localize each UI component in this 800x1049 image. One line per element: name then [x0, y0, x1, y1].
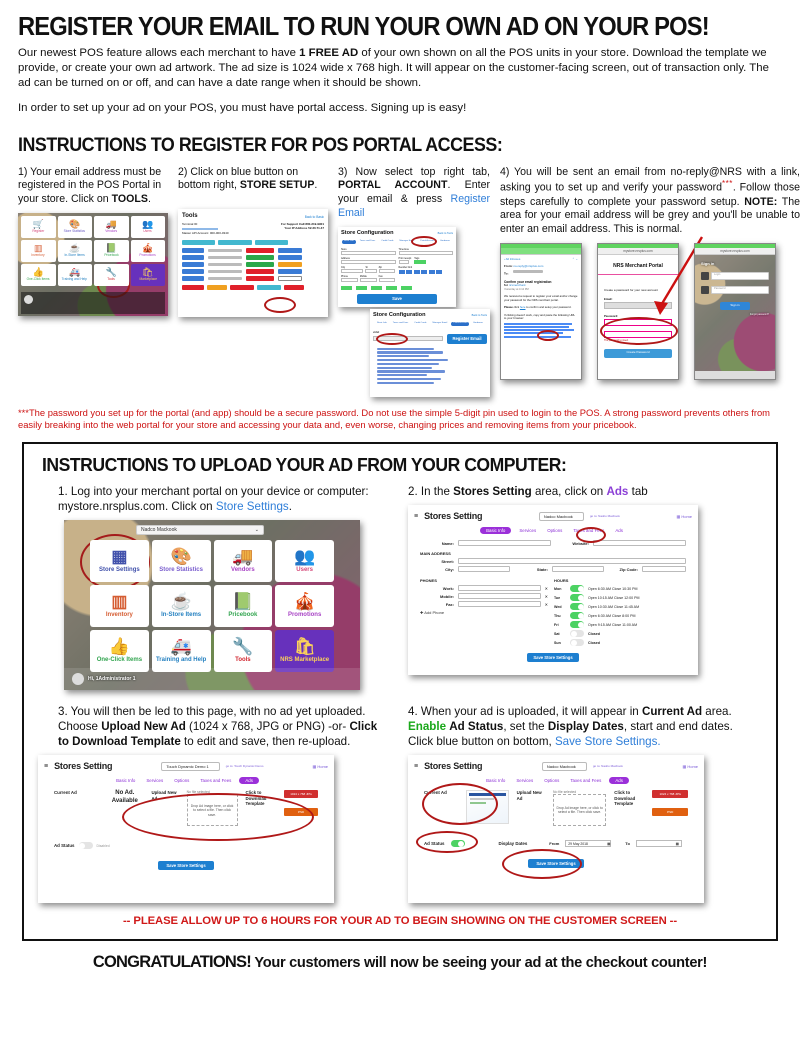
stores-setting-tab-ads[interactable]: Ads	[609, 777, 629, 784]
stores-setting-tab-services[interactable]: Services	[513, 777, 536, 784]
portal-tile-training-and-help[interactable]: 🚑Training and Help	[152, 630, 211, 672]
u2-text-c: tab	[628, 485, 647, 498]
u4-text-b: area.	[702, 705, 732, 718]
stores-setting-store-select[interactable]: Nadco Macbook	[539, 512, 584, 521]
pricebook-icon: 📗	[232, 593, 253, 610]
portal-tile-promotions[interactable]: 🎪Promotions	[275, 585, 334, 627]
ss-name-input[interactable]	[458, 540, 551, 546]
register-step-2: 2) Click on blue button on bottom right,…	[178, 166, 328, 318]
ads-filled-download-jpg-button[interactable]: 1024 x 768 JPG	[652, 790, 688, 798]
congrats-rest: Your customers will now be seeing your a…	[251, 955, 707, 971]
stores-setting-tab-basic-info[interactable]: Basic Info	[480, 527, 511, 534]
pos-tile-store-statistics[interactable]: 🎨Store Statistics	[58, 216, 93, 238]
phone3-signin-button[interactable]: Sign in	[720, 302, 750, 310]
store-config-tab-manager-email[interactable]: Manager Email	[431, 322, 450, 326]
vendors-icon: 🚚	[232, 548, 253, 565]
ads-filled-display-dates-label: Display Dates	[499, 841, 528, 846]
phone2-url: mystore.nrsplus.com	[623, 249, 652, 253]
training-and-help-icon: 🚑	[171, 638, 192, 655]
section-heading-upload: INSTRUCTIONS TO UPLOAD YOUR AD FROM YOUR…	[42, 454, 728, 476]
store-settings-icon: ▦	[111, 548, 127, 565]
stores-setting-tab-taxes-and-fees[interactable]: Taxes and Fees	[197, 777, 234, 784]
inventory-icon: ▥	[111, 593, 127, 610]
ads-empty-status-toggle[interactable]	[79, 842, 93, 849]
phone1-body-3: If clicking doesn't work, copy and paste…	[504, 314, 578, 321]
screenshot-tools-screen: Tools Back to Basic Terminal ID: Master …	[178, 209, 328, 317]
u4-bold-current-ad: Current Ad	[642, 705, 702, 718]
phone1-body-2: Please click here to confirm and setup y…	[504, 306, 578, 309]
phone1-back[interactable]: ‹ All Inboxes	[504, 258, 520, 262]
screenshot-phone-login: mystore.nrsplus.com Sign in Login Passwo…	[694, 243, 776, 380]
step3-text-a: 3) Now select top right tab,	[338, 166, 490, 178]
ads-filled-download-label: Click to Download Template	[614, 790, 644, 826]
inventory-icon: ▥	[34, 244, 43, 253]
ads-filled-upload-label: Upload New Ad	[517, 790, 545, 826]
upload-step-2: 2. In the Stores Setting area, click on …	[408, 484, 758, 690]
u2-text-b: area, click on	[532, 485, 607, 498]
ads-filled-from-input[interactable]: 29 May 2018▦	[565, 840, 611, 847]
store-config-tab-hardware[interactable]: Hardware	[471, 322, 484, 326]
portal-tile-in-store-items[interactable]: ☕In-Store Items	[152, 585, 211, 627]
intro-bold-free-ad: 1 FREE AD	[299, 47, 358, 59]
password-warning: ***The password you set up for the porta…	[18, 407, 782, 432]
store-config-register-email-button[interactable]: Register Email	[447, 334, 487, 343]
intro-paragraph-1: Our newest POS feature allows each merch…	[18, 46, 782, 92]
ss-main-address-label: MAIN ADDRESS	[420, 551, 686, 556]
store-config-tab-portal-account[interactable]: Portal Account	[451, 322, 469, 326]
stores-setting-tab-services[interactable]: Services	[143, 777, 166, 784]
store-config-tab-basic-info[interactable]: Basic Info	[375, 322, 389, 326]
hours-row-thu: ThuOpen 6:30 AM Close 8:00 PM	[554, 612, 692, 619]
upload-step-1-text: 1. Log into your merchant portal on your…	[36, 484, 386, 514]
hamburger-icon[interactable]: ≡	[414, 763, 418, 770]
in-store-items-icon: ☕	[69, 244, 80, 253]
hours-toggle-mon[interactable]	[570, 585, 584, 592]
upload-step-2-text: 2. In the Stores Setting area, click on …	[408, 484, 758, 499]
u4-green-enable: Enable	[408, 720, 446, 733]
redcircle-upload-area	[122, 793, 314, 841]
register-step-3: 3) Now select top right tab, PORTAL ACCO…	[338, 166, 490, 397]
screenshot-store-config-portal: Store Configuration Back to Tools Basic …	[370, 309, 490, 397]
tools-screen-back-link: Back to Basic	[305, 215, 324, 219]
ads-filled-from-label: From	[549, 841, 559, 846]
section-heading-register: INSTRUCTIONS TO REGISTER FOR POS PORTAL …	[18, 135, 736, 157]
calendar-icon: ▦	[607, 842, 610, 846]
u2-accent-ads: Ads	[606, 485, 628, 498]
hours-toggle-sun[interactable]	[570, 639, 584, 646]
portal-store-select[interactable]: Nadco Mackook⌄	[136, 525, 264, 535]
u1-link-store-settings[interactable]: Store Settings	[216, 500, 289, 513]
page-title: REGISTER YOUR EMAIL TO RUN YOUR OWN AD O…	[18, 14, 729, 41]
stores-setting-tab-services[interactable]: Services	[516, 527, 539, 534]
pricebook-icon: 📗	[106, 244, 117, 253]
delete-icon[interactable]: ✕	[545, 602, 548, 607]
avatar	[72, 673, 84, 685]
allow-time-note: -- PLEASE ALLOW UP TO 6 HOURS FOR YOUR A…	[36, 915, 764, 927]
phone2-create-password-button[interactable]: Create Password	[604, 349, 672, 358]
stores-setting-tab-options[interactable]: Options	[544, 527, 565, 534]
stores-setting-tab-ads[interactable]: Ads	[612, 527, 626, 534]
hours-toggle-tue[interactable]	[570, 594, 584, 601]
portal-footer-greeting: Hi, 1Administrator 1	[88, 676, 136, 682]
step4-bold-note: NOTE:	[744, 196, 777, 208]
phone1-timestamp: Yesterday at 4:12 PM	[504, 288, 578, 291]
phone1-body-1: We received a request to register your e…	[504, 295, 578, 302]
hamburger-icon[interactable]: ≡	[44, 763, 48, 770]
register-step-2-text: 2) Click on blue button on bottom right,…	[178, 166, 328, 194]
ads-filled-download-psd-button[interactable]: PSD	[652, 808, 688, 816]
upload-step-4-text: 4. When your ad is uploaded, it will app…	[408, 704, 758, 749]
vendors-icon: 🚚	[106, 220, 117, 229]
portal-tile-users[interactable]: 👥Users	[275, 540, 334, 582]
portal-tile-inventory[interactable]: ▥Inventory	[90, 585, 149, 627]
ss-work-input[interactable]	[458, 585, 541, 591]
register-step-4-text: 4) You will be sent an email from no-rep…	[500, 166, 800, 237]
user-icon	[701, 272, 709, 280]
stores-setting-tab-basic-info[interactable]: Basic Info	[483, 777, 508, 784]
ss-zip-input[interactable]	[642, 566, 686, 572]
u1-text-b: .	[289, 500, 292, 513]
hours-row-fri: FriOpen 9:15 AM Close 11:00 AM	[554, 621, 692, 628]
redcircle-save-button	[502, 849, 582, 879]
store-config-back-1: Back to Tools	[438, 232, 453, 235]
store-statistics-icon: 🎨	[171, 548, 192, 565]
portal-tile-store-settings[interactable]: ▦Store Settings	[90, 540, 149, 582]
ads-empty-download-jpg-button[interactable]: 1024 x 768 JPG	[284, 790, 318, 798]
ss-city-input[interactable]	[458, 566, 510, 572]
pos-tile-training-and-help[interactable]: 🚑Training and Help	[58, 264, 93, 286]
ads-empty-store-select[interactable]: Touch Dynamic Demo 1	[161, 762, 219, 771]
upload-steps-row-top: 1. Log into your merchant portal on your…	[36, 484, 764, 690]
screenshot-pos-tools-grid: 🛒Register🎨Store Statistics🚚Vendors👥Users…	[18, 213, 168, 316]
ss-name-label: Name:	[420, 541, 454, 546]
ss-hours-label: HOURS	[554, 578, 692, 583]
portal-tile-nrs-marketplace[interactable]: 🛍NRS Marketplace	[275, 630, 334, 672]
tools-icon: 🔧	[232, 638, 253, 655]
store-config-back-2: Back to Tools	[472, 314, 487, 317]
ads-empty-goto-link[interactable]: go to: Touch Dynamic Demo	[226, 764, 264, 768]
stores-setting-goto-link[interactable]: go to: Nadco Macbook	[590, 514, 620, 518]
portal-tile-vendors[interactable]: 🚚Vendors	[214, 540, 273, 582]
redcircle-portal-account-tab	[411, 236, 437, 247]
register-step-4: 4) You will be sent an email from no-rep…	[500, 166, 800, 393]
congratulations-line: CONGRATULATIONS! Your customers will now…	[18, 953, 782, 972]
ads-filled-title: Stores Setting	[424, 761, 482, 771]
screenshot-ads-tab-empty: ≡ Stores Setting Touch Dynamic Demo 1 go…	[38, 755, 334, 903]
pos-tile-pricebook[interactable]: 📗Pricebook	[94, 240, 129, 262]
phone1-from-value: no-reply@nrsplus.com	[513, 264, 543, 268]
ss-fax-input[interactable]	[458, 601, 541, 607]
hours-toggle-sat[interactable]	[570, 630, 584, 637]
u4-text-a: 4. When your ad is uploaded, it will app…	[408, 705, 642, 718]
u3-text-c: to edit and save, then re-upload.	[181, 735, 351, 748]
calendar-icon: ▦	[676, 842, 679, 846]
store-config-save-1[interactable]: Save	[357, 294, 438, 303]
pos-tile-in-store-items[interactable]: ☕In-Store Items	[58, 240, 93, 262]
ads-filled-home-link[interactable]: ▦ Home	[682, 764, 698, 769]
chevron-down-icon: ⌄	[255, 527, 259, 533]
redcircle-here-link	[537, 330, 559, 341]
tools-row	[182, 255, 324, 260]
step3-bold-portal-account: PORTAL ACCOUNT	[338, 179, 447, 191]
stores-setting-tab-taxes-and-fees[interactable]: Taxes and Fees	[567, 777, 604, 784]
hours-row-mon: MonOpen 6:30 AM Close 10:30 PM	[554, 585, 692, 592]
pos-tile-inventory[interactable]: ▥Inventory	[21, 240, 56, 262]
phone1-for-label: for	[504, 283, 508, 287]
redcircle-store-setup	[264, 297, 296, 313]
ss-street-input[interactable]	[458, 558, 686, 564]
register-step-1: 1) Your email address must be registered…	[18, 166, 168, 316]
users-icon: 👥	[294, 548, 315, 565]
ss-phones-label: PHONES	[420, 578, 554, 583]
store-config-title-1: Store Configuration	[341, 230, 394, 237]
hamburger-icon[interactable]: ≡	[414, 513, 418, 520]
ss-work-label: Work:	[420, 586, 454, 591]
ads-empty-home-link[interactable]: ▦ Home	[312, 764, 328, 769]
upload-instructions-box: INSTRUCTIONS TO UPLOAD YOUR AD FROM YOUR…	[22, 442, 778, 941]
intro-paragraph-2: In order to set up your ad on your POS, …	[18, 101, 782, 116]
poster-page: REGISTER YOUR EMAIL TO RUN YOUR OWN AD O…	[0, 14, 800, 1049]
hours-row-wed: WedOpen 10:30 AM Close 11:45 AM	[554, 603, 692, 610]
ads-empty-title: Stores Setting	[54, 761, 112, 771]
screenshot-stores-setting-basic-info: ≡ Stores Setting Nadco Macbook go to: Na…	[408, 505, 698, 675]
phone1-header	[501, 248, 581, 255]
redcircle-ad-status	[416, 831, 478, 853]
store-config-tab-basic-info[interactable]: Basic Info	[342, 240, 356, 244]
tools-row	[182, 262, 324, 267]
phone3-url: mystore.nrsplus.com	[720, 249, 749, 253]
ss-state-label: State:	[514, 567, 548, 572]
delete-icon[interactable]: ✕	[545, 594, 548, 599]
marketplace-icon: 🛍	[142, 268, 153, 277]
ads-empty-status-value: Disabled	[97, 844, 110, 848]
delete-icon[interactable]: ✕	[545, 586, 548, 591]
tools-row	[182, 248, 324, 253]
promotions-icon: 🎪	[294, 593, 315, 610]
ss-website-input[interactable]	[593, 540, 686, 546]
redcircle-email-field	[376, 333, 408, 345]
stores-setting-tab-basic-info[interactable]: Basic Info	[113, 777, 138, 784]
users-icon: 👥	[142, 220, 153, 229]
u3-bold-upload-new-ad: Upload New Ad	[101, 720, 186, 733]
store-statistics-icon: 🎨	[69, 220, 80, 229]
pos-tile-users[interactable]: 👥Users	[131, 216, 166, 238]
portal-tile-store-statistics[interactable]: 🎨Store Statistics	[152, 540, 211, 582]
store-config-tab-hardware[interactable]: Hardware	[438, 240, 451, 244]
ss-state-select[interactable]	[552, 566, 604, 572]
hours-row-sun: SunClosed	[554, 639, 692, 646]
pos-tile-register[interactable]: 🛒Register	[21, 216, 56, 238]
ss-city-label: City:	[420, 567, 454, 572]
screenshot-ads-tab-filled: ≡ Stores Setting Nadco Macbook go to: Na…	[408, 755, 704, 903]
ss-add-phone-button[interactable]: ✚ Add Phone	[420, 610, 554, 615]
tools-row	[182, 276, 324, 281]
register-step-3-text: 3) Now select top right tab, PORTAL ACCO…	[338, 166, 490, 221]
ads-filled-store-select[interactable]: Nadco Macbook	[542, 762, 587, 771]
screenshot-phone-email: ‹ All Inboxes⌃ ⌄ From: no-reply@nrsplus.…	[500, 243, 582, 380]
portal-tile-pricebook[interactable]: 📗Pricebook	[214, 585, 273, 627]
hours-toggle-fri[interactable]	[570, 621, 584, 628]
intro-text-a: Our newest POS feature allows each merch…	[18, 47, 299, 59]
one-click-items-icon: 👍	[109, 638, 130, 655]
store-config-tab-credit-cards[interactable]: Credit Cards	[379, 240, 395, 244]
ads-empty-status-label: Ad Status	[54, 843, 75, 848]
tools-terminal-label: Terminal ID:	[182, 222, 198, 226]
screenshot-portal-home-grid: Nadco Mackook⌄ ▦Store Settings🎨Store Sta…	[64, 520, 360, 690]
ads-filled-to-label: To	[625, 841, 630, 846]
store-config-tab-taxes-and-fees[interactable]: Taxes and Fees	[391, 322, 410, 326]
portal-tile-tools[interactable]: 🔧Tools	[214, 630, 273, 672]
pos-tile-marketplace[interactable]: 🛍Marketplace	[131, 264, 166, 286]
register-icon: 🛒	[33, 220, 44, 229]
pos-tile-one-click-items[interactable]: 👍One-Click Items	[21, 264, 56, 286]
ss-save-button[interactable]: Save Store Settings	[527, 653, 579, 662]
nrs-marketplace-icon: 🛍	[294, 638, 316, 655]
tools-master-label: Master API Account: 000-000-0340	[182, 232, 229, 236]
pos-tile-tools[interactable]: 🔧Tools	[94, 264, 129, 286]
one-click-items-icon: 👍	[33, 268, 44, 277]
store-config-tab-taxes-and-fees[interactable]: Taxes and Fees	[358, 240, 377, 244]
stores-setting-tab-options[interactable]: Options	[541, 777, 562, 784]
phone3-password-input[interactable]: Password	[711, 286, 769, 294]
stores-setting-home-link[interactable]: ▦ Home	[676, 514, 692, 519]
tools-screen-title: Tools	[182, 213, 198, 221]
pos-tile-promotions[interactable]: 🎪Promotions	[131, 240, 166, 262]
u1-text-a: 1. Log into your merchant portal on your…	[58, 485, 369, 513]
ads-filled-goto-link[interactable]: go to: Nadco Macbook	[593, 764, 623, 768]
ads-empty-save-button[interactable]: Save Store Settings	[158, 861, 214, 870]
store-config-title-2: Store Configuration	[373, 312, 426, 319]
training-and-help-icon: 🚑	[69, 268, 80, 277]
stores-setting-title: Stores Setting	[424, 511, 482, 521]
phone1-from-label: From:	[504, 264, 513, 268]
ads-filled-to-input[interactable]: ▦	[636, 840, 682, 847]
step1-bold-tools: TOOLS	[112, 193, 148, 205]
register-step-1-text: 1) Your email address must be registered…	[18, 166, 168, 207]
phone3-forgot-link[interactable]: Forgot password?	[701, 313, 769, 316]
ss-zip-label: Zip Code:	[608, 567, 638, 572]
phone3-login-input[interactable]: Login	[711, 272, 769, 280]
upload-step-4: 4. When your ad is uploaded, it will app…	[408, 704, 758, 903]
phone1-to-label: To:	[504, 271, 508, 275]
tools-icon: 🔧	[106, 268, 117, 277]
step2-text-b: .	[314, 179, 317, 191]
step4-asterisks: ***	[722, 179, 733, 188]
upload-step-1: 1. Log into your merchant portal on your…	[36, 484, 386, 690]
screenshot-store-config-basic: Store Configuration Back to Tools Basic …	[338, 227, 456, 307]
u2-bold-stores-setting: Stores Setting	[453, 485, 532, 498]
lock-icon	[701, 286, 709, 294]
congrats-big: CONGRATULATIONS!	[93, 953, 251, 971]
hours-toggle-thu[interactable]	[570, 612, 584, 619]
hours-toggle-wed[interactable]	[570, 603, 584, 610]
in-store-items-icon: ☕	[171, 593, 192, 610]
upload-step-3-text: 3. You will then be led to this page, wi…	[36, 704, 386, 749]
tools-row	[182, 269, 324, 274]
tools-ip-text: Your IP Address 52.30.71.47	[281, 227, 324, 231]
ss-mobile-input[interactable]	[458, 593, 541, 599]
hours-row-sat: SatClosed	[554, 630, 692, 637]
ads-filled-dropzone[interactable]: Drop Ad image here, or click to select a…	[553, 794, 606, 826]
stores-setting-tab-options[interactable]: Options	[171, 777, 192, 784]
portal-tile-one-click-items[interactable]: 👍One-Click Items	[90, 630, 149, 672]
u2-text-a: 2. In the	[408, 485, 453, 498]
stores-setting-tab-ads[interactable]: Ads	[239, 777, 259, 784]
tools-store-setup-button[interactable]	[257, 285, 281, 290]
step2-bold-store-setup: STORE SETUP	[240, 179, 315, 191]
upload-step-3: 3. You will then be led to this page, wi…	[36, 704, 386, 903]
store-config-tab-credit-cards[interactable]: Credit Cards	[412, 322, 428, 326]
promotions-icon: 🎪	[142, 244, 153, 253]
ss-fax-label: Fax:	[420, 602, 454, 607]
pos-tile-vendors[interactable]: 🚚Vendors	[94, 216, 129, 238]
step1-text-b: .	[148, 193, 151, 205]
ads-empty-current-ad-label: Current Ad	[54, 790, 98, 795]
u4-text-d: , set the	[503, 720, 547, 733]
upload-steps-row-bottom: 3. You will then be led to this page, wi…	[36, 704, 764, 903]
u3-text-b: (1024 x 768, JPG or PNG) -or-	[186, 720, 350, 733]
u4-link-save-store-settings[interactable]: Save Store Settings.	[555, 735, 661, 748]
u4-bold-ad-status: Ad Status	[449, 720, 503, 733]
register-steps-row: 1) Your email address must be registered…	[18, 166, 782, 397]
u4-bold-display-dates: Display Dates	[548, 720, 624, 733]
hours-row-tue: TueOpen 10:15 AM Close 12:00 PM	[554, 594, 692, 601]
ss-mobile-label: Mobile:	[420, 594, 454, 599]
ss-street-label: Street:	[420, 559, 454, 564]
